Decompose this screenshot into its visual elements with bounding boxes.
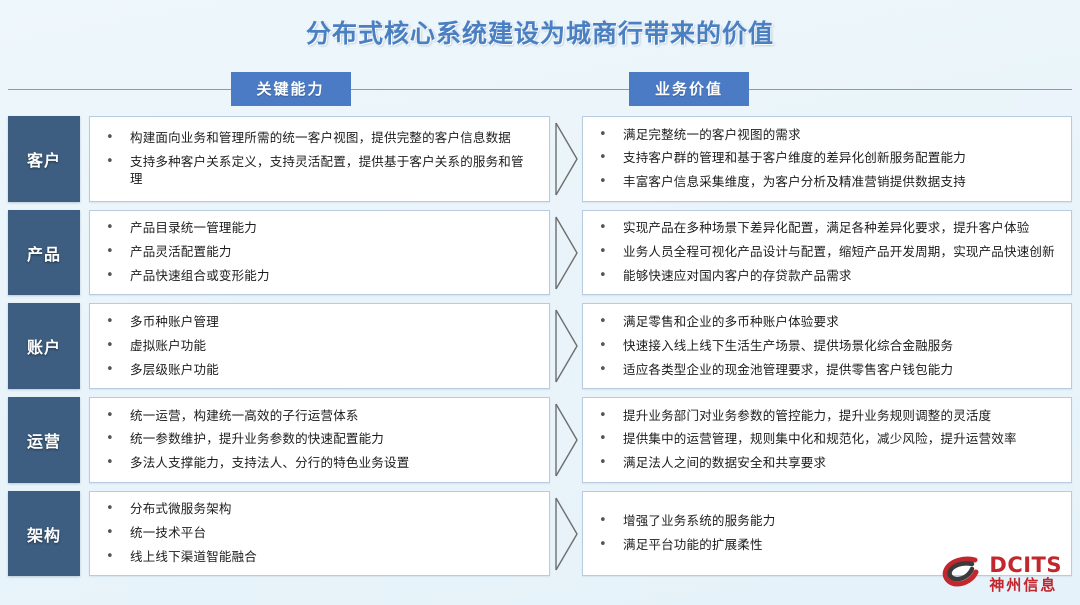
header-rule-right — [749, 89, 1072, 90]
brand-logo: DCITS 神州信息 — [942, 555, 1062, 593]
capabilities-card: • 构建面向业务和管理所需的统一客户视图，提供完整的客户信息数据 • 支持多种客… — [89, 116, 550, 202]
bullet-item: • 能够快速应对国内客户的存贷款产品需求 — [597, 264, 1057, 288]
bullet-dot-icon: • — [104, 455, 130, 472]
bullet-dot-icon: • — [597, 537, 623, 554]
chevron-right-icon — [550, 491, 582, 577]
bullet-text: 适应各类型企业的现金池管理要求，提供零售客户钱包能力 — [623, 362, 953, 379]
bullet-dot-icon: • — [104, 362, 130, 379]
bullet-dot-icon: • — [597, 362, 623, 379]
bullet-text: 支持多种客户关系定义，支持灵活配置，提供基于客户关系的服务和管理 — [130, 154, 535, 188]
bullet-item: • 快速接入线上线下生活生产场景、提供场景化综合金融服务 — [597, 334, 1057, 358]
capabilities-card: • 统一运营，构建统一高效的子行运营体系 • 统一参数维护，提升业务参数的快速配… — [89, 397, 550, 483]
bullet-dot-icon: • — [104, 220, 130, 237]
bullet-dot-icon: • — [597, 150, 623, 167]
bullet-item: • 增强了业务系统的服务能力 — [597, 510, 1057, 534]
bullet-item: • 满足平台功能的扩展柔性 — [597, 534, 1057, 558]
rows-container: 客户 • 构建面向业务和管理所需的统一客户视图，提供完整的客户信息数据 • 支持… — [0, 116, 1080, 576]
bullet-text: 虚拟账户功能 — [130, 338, 206, 355]
values-card: • 满足完整统一的客户视图的需求 • 支持客户群的管理和基于客户维度的差异化创新… — [582, 116, 1072, 202]
capabilities-card: • 分布式微服务架构 • 统一技术平台 • 线上线下渠道智能融合 — [89, 491, 550, 577]
bullet-text: 业务人员全程可视化产品设计与配置，缩短产品开发周期，实现产品快速创新 — [623, 244, 1055, 261]
bullet-item: • 统一运营，构建统一高效的子行运营体系 — [104, 404, 535, 428]
chevron-right-icon — [550, 303, 582, 389]
column-header-capabilities: 关键能力 — [8, 72, 573, 106]
comparison-row: 产品 • 产品目录统一管理能力 • 产品灵活配置能力 • 产品快速组合或变形能力… — [8, 210, 1072, 296]
bullet-item: • 统一参数维护，提升业务参数的快速配置能力 — [104, 428, 535, 452]
bullet-dot-icon: • — [597, 220, 623, 237]
capabilities-card: • 多币种账户管理 • 虚拟账户功能 • 多层级账户功能 — [89, 303, 550, 389]
bullet-item: • 线上线下渠道智能融合 — [104, 545, 535, 569]
bullet-text: 丰富客户信息采集维度，为客户分析及精准营销提供数据支持 — [623, 174, 966, 191]
bullet-text: 产品快速组合或变形能力 — [130, 268, 270, 285]
bullet-text: 满足平台功能的扩展柔性 — [623, 537, 763, 554]
row-label-0: 客户 — [8, 116, 80, 202]
bullet-text: 满足法人之间的数据安全和共享要求 — [623, 455, 826, 472]
bullet-dot-icon: • — [104, 525, 130, 542]
chevron-right-icon — [550, 116, 582, 202]
bullet-text: 构建面向业务和管理所需的统一客户视图，提供完整的客户信息数据 — [130, 130, 511, 147]
bullet-dot-icon: • — [104, 268, 130, 285]
bullet-dot-icon: • — [597, 455, 623, 472]
row-label-1: 产品 — [8, 210, 80, 296]
bullet-dot-icon: • — [104, 338, 130, 355]
values-card: • 提升业务部门对业务参数的管控能力，提升业务规则调整的灵活度 • 提供集中的运… — [582, 397, 1072, 483]
bullet-text: 统一技术平台 — [130, 525, 206, 542]
bullet-text: 线上线下渠道智能融合 — [130, 549, 257, 566]
bullet-text: 能够快速应对国内客户的存贷款产品需求 — [623, 268, 852, 285]
bullet-text: 统一运营，构建统一高效的子行运营体系 — [130, 408, 359, 425]
bullet-item: • 产品灵活配置能力 — [104, 241, 535, 265]
bullet-dot-icon: • — [597, 338, 623, 355]
bullet-text: 满足完整统一的客户视图的需求 — [623, 127, 801, 144]
bullet-dot-icon: • — [597, 244, 623, 261]
logo-wordmark: DCITS 神州信息 — [989, 555, 1062, 593]
bullet-text: 统一参数维护，提升业务参数的快速配置能力 — [130, 431, 384, 448]
comparison-row: 账户 • 多币种账户管理 • 虚拟账户功能 • 多层级账户功能 • 满足零售和企… — [8, 303, 1072, 389]
bullet-text: 实现产品在多种场景下差异化配置，满足各种差异化要求，提升客户体验 — [623, 220, 1029, 237]
header-rule-right — [351, 89, 574, 90]
comparison-row: 运营 • 统一运营，构建统一高效的子行运营体系 • 统一参数维护，提升业务参数的… — [8, 397, 1072, 483]
bullet-text: 增强了业务系统的服务能力 — [623, 513, 775, 530]
bullet-dot-icon: • — [104, 244, 130, 261]
dcits-swirl-icon — [942, 555, 982, 593]
bullet-dot-icon: • — [104, 549, 130, 566]
row-label-4: 架构 — [8, 491, 80, 577]
bullet-dot-icon: • — [597, 408, 623, 425]
bullet-item: • 分布式微服务架构 — [104, 498, 535, 522]
column-header-values: 业务价值 — [573, 72, 1072, 106]
bullet-dot-icon: • — [104, 314, 130, 331]
bullet-item: • 构建面向业务和管理所需的统一客户视图，提供完整的客户信息数据 — [104, 127, 535, 151]
values-card: • 实现产品在多种场景下差异化配置，满足各种差异化要求，提升客户体验 • 业务人… — [582, 210, 1072, 296]
bullet-text: 分布式微服务架构 — [130, 501, 232, 518]
chevron-right-icon — [550, 210, 582, 296]
bullet-text: 提供集中的运营管理，规则集中化和规范化，减少风险，提升运营效率 — [623, 431, 1017, 448]
bullet-item: • 支持多种客户关系定义，支持灵活配置，提供基于客户关系的服务和管理 — [104, 150, 535, 191]
row-label-2: 账户 — [8, 303, 80, 389]
bullet-text: 提升业务部门对业务参数的管控能力，提升业务规则调整的灵活度 — [623, 408, 991, 425]
bullet-dot-icon: • — [104, 130, 130, 147]
bullet-item: • 多层级账户功能 — [104, 358, 535, 382]
bullet-item: • 多币种账户管理 — [104, 310, 535, 334]
comparison-row: 架构 • 分布式微服务架构 • 统一技术平台 • 线上线下渠道智能融合 • 增强… — [8, 491, 1072, 577]
capabilities-card: • 产品目录统一管理能力 • 产品灵活配置能力 • 产品快速组合或变形能力 — [89, 210, 550, 296]
bullet-text: 满足零售和企业的多币种账户体验要求 — [623, 314, 839, 331]
bullet-item: • 适应各类型企业的现金池管理要求，提供零售客户钱包能力 — [597, 358, 1057, 382]
bullet-dot-icon: • — [597, 127, 623, 144]
bullet-item: • 满足法人之间的数据安全和共享要求 — [597, 452, 1057, 476]
bullet-text: 多币种账户管理 — [130, 314, 219, 331]
column-headers: 关键能力 业务价值 — [0, 72, 1080, 106]
bullet-item: • 丰富客户信息采集维度，为客户分析及精准营销提供数据支持 — [597, 171, 1057, 195]
bullet-item: • 满足零售和企业的多币种账户体验要求 — [597, 310, 1057, 334]
header-rule-left — [8, 89, 231, 90]
logo-sub: 神州信息 — [989, 578, 1062, 593]
bullet-item: • 提供集中的运营管理，规则集中化和规范化，减少风险，提升运营效率 — [597, 428, 1057, 452]
page-title: 分布式核心系统建设为城商行带来的价值 — [0, 0, 1080, 50]
bullet-text: 支持客户群的管理和基于客户维度的差异化创新服务配置能力 — [623, 150, 966, 167]
bullet-item: • 产品快速组合或变形能力 — [104, 264, 535, 288]
values-card: • 满足零售和企业的多币种账户体验要求 • 快速接入线上线下生活生产场景、提供场… — [582, 303, 1072, 389]
bullet-item: • 提升业务部门对业务参数的管控能力，提升业务规则调整的灵活度 — [597, 404, 1057, 428]
bullet-dot-icon: • — [104, 501, 130, 518]
header-badge-capabilities: 关键能力 — [231, 72, 351, 106]
bullet-item: • 支持客户群的管理和基于客户维度的差异化创新服务配置能力 — [597, 147, 1057, 171]
bullet-item: • 实现产品在多种场景下差异化配置，满足各种差异化要求，提升客户体验 — [597, 217, 1057, 241]
bullet-item: • 统一技术平台 — [104, 522, 535, 546]
bullet-item: • 产品目录统一管理能力 — [104, 217, 535, 241]
header-badge-values: 业务价值 — [629, 72, 749, 106]
bullet-item: • 多法人支撑能力，支持法人、分行的特色业务设置 — [104, 452, 535, 476]
logo-name: DCITS — [989, 555, 1062, 576]
bullet-dot-icon: • — [597, 268, 623, 285]
bullet-dot-icon: • — [104, 431, 130, 448]
bullet-text: 多层级账户功能 — [130, 362, 219, 379]
bullet-dot-icon: • — [597, 174, 623, 191]
bullet-text: 多法人支撑能力，支持法人、分行的特色业务设置 — [130, 455, 409, 472]
bullet-dot-icon: • — [597, 314, 623, 331]
bullet-dot-icon: • — [104, 408, 130, 425]
bullet-dot-icon: • — [597, 431, 623, 448]
row-label-3: 运营 — [8, 397, 80, 483]
bullet-item: • 虚拟账户功能 — [104, 334, 535, 358]
bullet-text: 产品目录统一管理能力 — [130, 220, 257, 237]
header-rule-left — [573, 89, 629, 90]
comparison-row: 客户 • 构建面向业务和管理所需的统一客户视图，提供完整的客户信息数据 • 支持… — [8, 116, 1072, 202]
bullet-dot-icon: • — [597, 513, 623, 530]
bullet-item: • 业务人员全程可视化产品设计与配置，缩短产品开发周期，实现产品快速创新 — [597, 241, 1057, 265]
bullet-text: 产品灵活配置能力 — [130, 244, 232, 261]
bullet-item: • 满足完整统一的客户视图的需求 — [597, 123, 1057, 147]
bullet-text: 快速接入线上线下生活生产场景、提供场景化综合金融服务 — [623, 338, 953, 355]
bullet-dot-icon: • — [104, 154, 130, 171]
chevron-right-icon — [550, 397, 582, 483]
